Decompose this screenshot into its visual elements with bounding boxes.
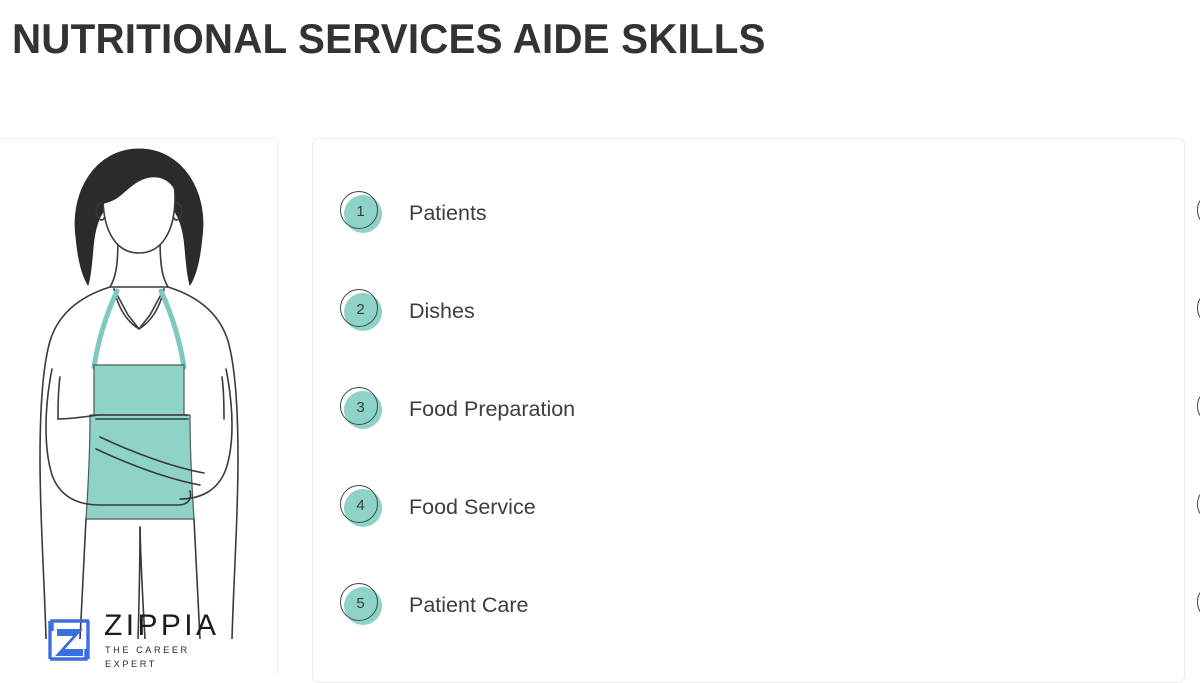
skill-item[interactable]: 10 Food Carts <box>1196 579 1200 631</box>
badge-ring: 10 <box>1197 583 1200 621</box>
skill-item[interactable]: 2 Dishes <box>339 285 475 337</box>
skill-number-badge: 8 <box>1196 386 1200 432</box>
badge-ring: 2 <box>340 289 378 327</box>
skill-label: Food Preparation <box>409 395 575 423</box>
zippia-wordmark: ZIPPIA <box>104 611 245 641</box>
skill-number-badge: 2 <box>339 288 385 334</box>
illustration-panel <box>0 138 278 675</box>
nutritional-services-aide-illustration <box>0 138 278 639</box>
zippia-tagline: THE CAREER EXPERT <box>104 643 245 671</box>
skill-number-badge: 7 <box>1196 288 1200 334</box>
skill-label: Food Service <box>409 493 536 521</box>
skill-label: Patient Care <box>409 591 529 619</box>
badge-ring: 6 <box>1197 191 1200 229</box>
badge-ring: 1 <box>340 191 378 229</box>
badge-ring: 5 <box>340 583 378 621</box>
skills-columns: 1 Patients 2 Dishes 3 <box>313 139 1184 682</box>
skill-item[interactable]: 3 Food Preparation <box>339 383 575 435</box>
skill-item[interactable]: 5 Patient Care <box>339 579 529 631</box>
skill-item[interactable]: 9 Food Handling <box>1196 481 1200 533</box>
skill-number: 3 <box>356 400 364 415</box>
skill-item[interactable]: 7 Infection Control <box>1196 285 1200 337</box>
skills-card: 1 Patients 2 Dishes 3 <box>312 138 1185 683</box>
skill-item[interactable]: 1 Patients <box>339 187 487 239</box>
skill-number: 1 <box>356 204 364 219</box>
zippia-z-mark <box>45 616 93 664</box>
skills-left-column: 1 Patients 2 Dishes 3 <box>313 139 749 682</box>
skill-number-badge: 10 <box>1196 582 1200 628</box>
badge-ring: 3 <box>340 387 378 425</box>
skill-item[interactable]: 4 Food Service <box>339 481 536 533</box>
skill-number-badge: 3 <box>339 386 385 432</box>
skill-number: 5 <box>356 596 364 611</box>
skill-label: Patients <box>409 199 487 227</box>
zippia-logo[interactable]: ZIPPIA THE CAREER EXPERT <box>45 612 245 668</box>
badge-ring: 9 <box>1197 485 1200 523</box>
page-title: NUTRITIONAL SERVICES AIDE SKILLS <box>12 14 876 64</box>
skill-number: 2 <box>356 302 364 317</box>
skill-item[interactable]: 8 Meal Trays <box>1196 383 1200 435</box>
skill-number-badge: 5 <box>339 582 385 628</box>
skill-number-badge: 6 <box>1196 190 1200 236</box>
skill-number: 4 <box>356 498 364 513</box>
skill-item[interactable]: 6 Meal Service <box>1196 187 1200 239</box>
skills-right-column: 6 Meal Service 7 Infection Control <box>749 139 1196 682</box>
skill-number-badge: 1 <box>339 190 385 236</box>
skill-number-badge: 4 <box>339 484 385 530</box>
skill-number-badge: 9 <box>1196 484 1200 530</box>
badge-ring: 8 <box>1197 387 1200 425</box>
badge-ring: 4 <box>340 485 378 523</box>
badge-ring: 7 <box>1197 289 1200 327</box>
skill-label: Dishes <box>409 297 475 325</box>
